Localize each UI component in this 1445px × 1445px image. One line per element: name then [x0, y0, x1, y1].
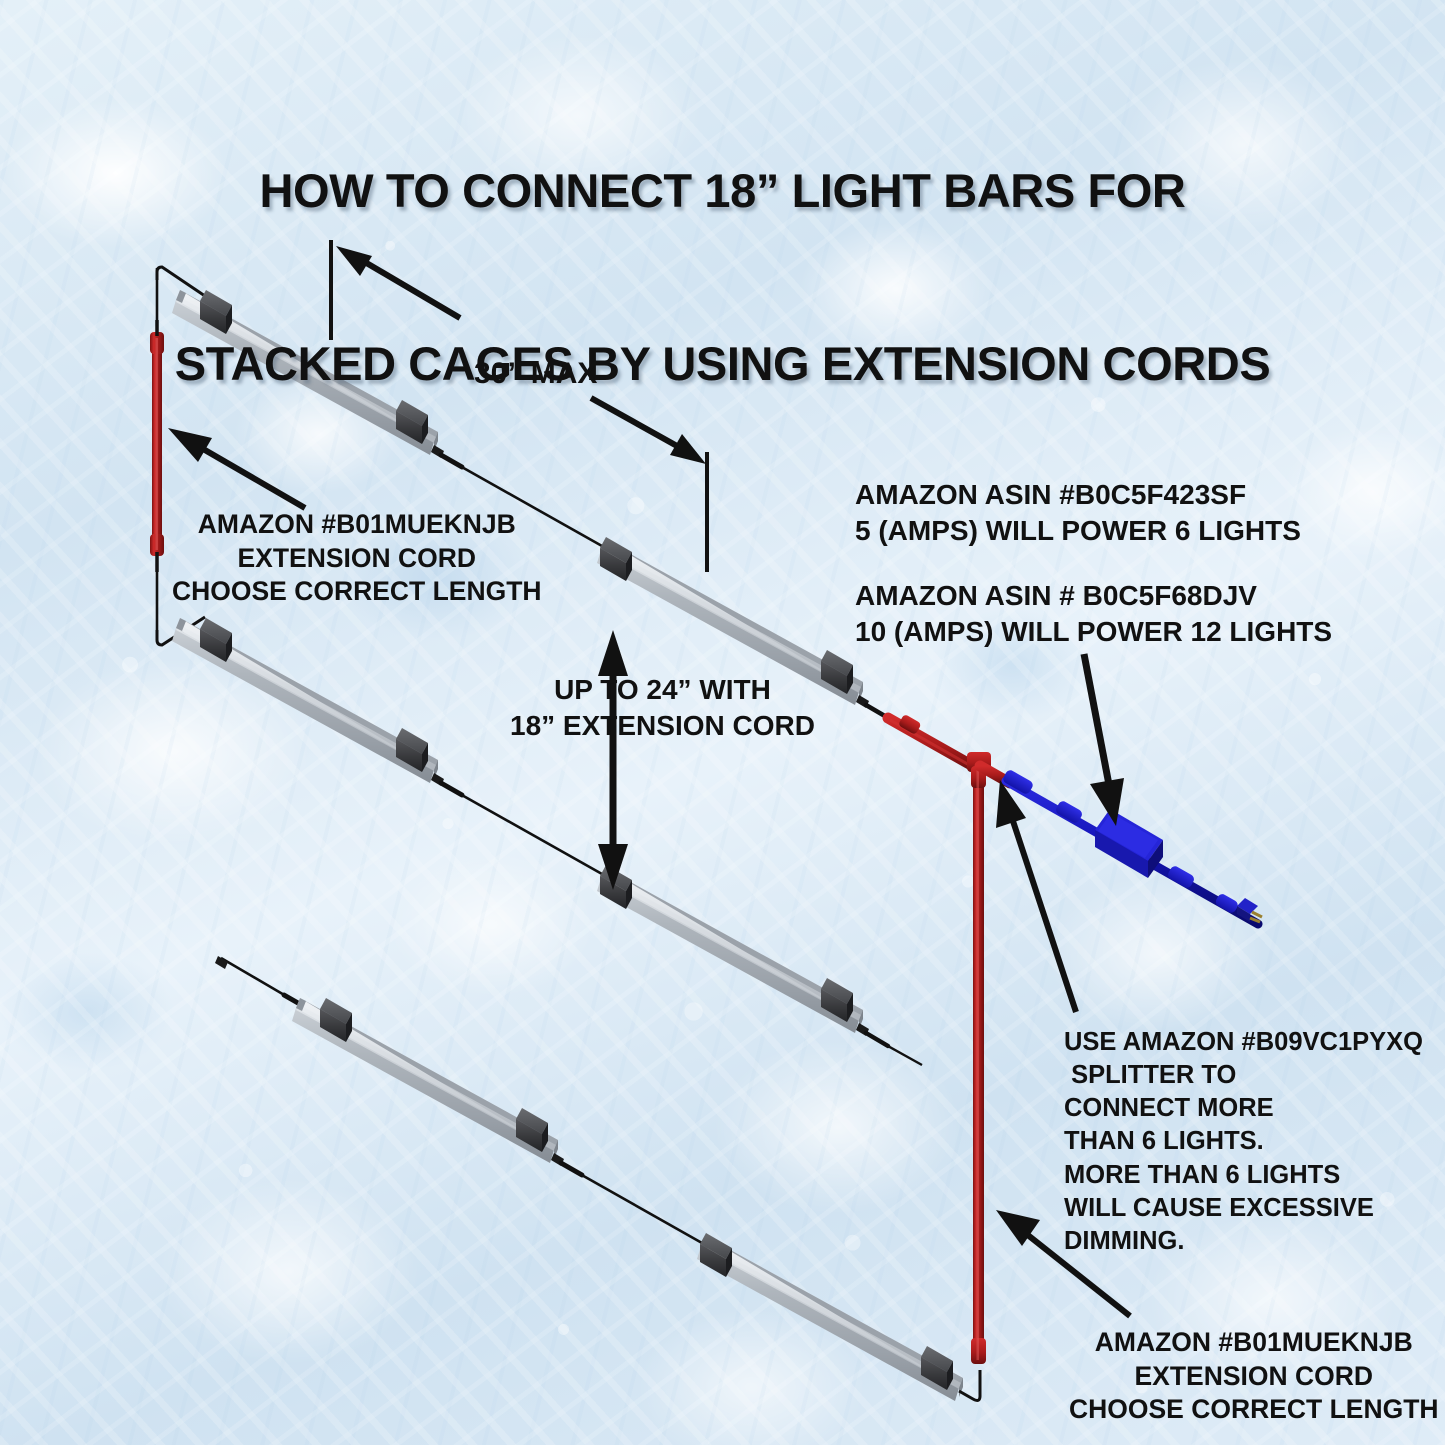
label-splitter-warning: USE AMAZON #B09VC1PYXQ SPLITTER TO CONNE…	[1064, 1026, 1423, 1258]
callout-arrow-upto24-down	[598, 760, 628, 890]
infographic-canvas: HOW TO CONNECT 18” LIGHT BARS FOR STACKE…	[0, 0, 1445, 1445]
light-bar	[172, 618, 438, 783]
light-bar	[697, 1233, 963, 1401]
label-asin-5-amp: AMAZON ASIN #B0C5F423SF 5 (AMPS) WILL PO…	[855, 477, 1301, 548]
red-splitter[interactable]	[967, 752, 991, 1364]
page-title-line-2: STACKED CAGES BY USING EXTENSION CORDS	[0, 335, 1445, 393]
page-title-line-1: HOW TO CONNECT 18” LIGHT BARS FOR	[0, 162, 1445, 220]
light-bar	[292, 998, 558, 1163]
mounting-clip	[600, 537, 632, 581]
callout-arrow-power-brick	[1084, 654, 1124, 826]
black-connector-cord	[431, 773, 602, 874]
black-connector-cord	[215, 956, 305, 1007]
light-bar-row-3	[215, 956, 980, 1401]
label-up-to-24-inch: UP TO 24” WITH 18” EXTENSION CORD	[510, 672, 815, 743]
black-connector-cord	[856, 1023, 922, 1065]
power-brick	[1095, 809, 1163, 878]
label-extension-cord-top: AMAZON #B01MUEKNJB EXTENSION CORD CHOOSE…	[172, 508, 542, 609]
light-bar	[597, 865, 863, 1033]
label-30-inch-max: 30” MAX	[474, 355, 597, 393]
label-asin-10-amp: AMAZON ASIN # B0C5F68DJV 10 (AMPS) WILL …	[855, 578, 1332, 649]
black-connector-cord	[551, 1153, 702, 1243]
label-extension-cord-bottom: AMAZON #B01MUEKNJB EXTENSION CORD CHOOSE…	[1069, 1326, 1439, 1427]
page-title: HOW TO CONNECT 18” LIGHT BARS FOR STACKE…	[0, 46, 1445, 508]
mounting-clip	[700, 1233, 732, 1277]
